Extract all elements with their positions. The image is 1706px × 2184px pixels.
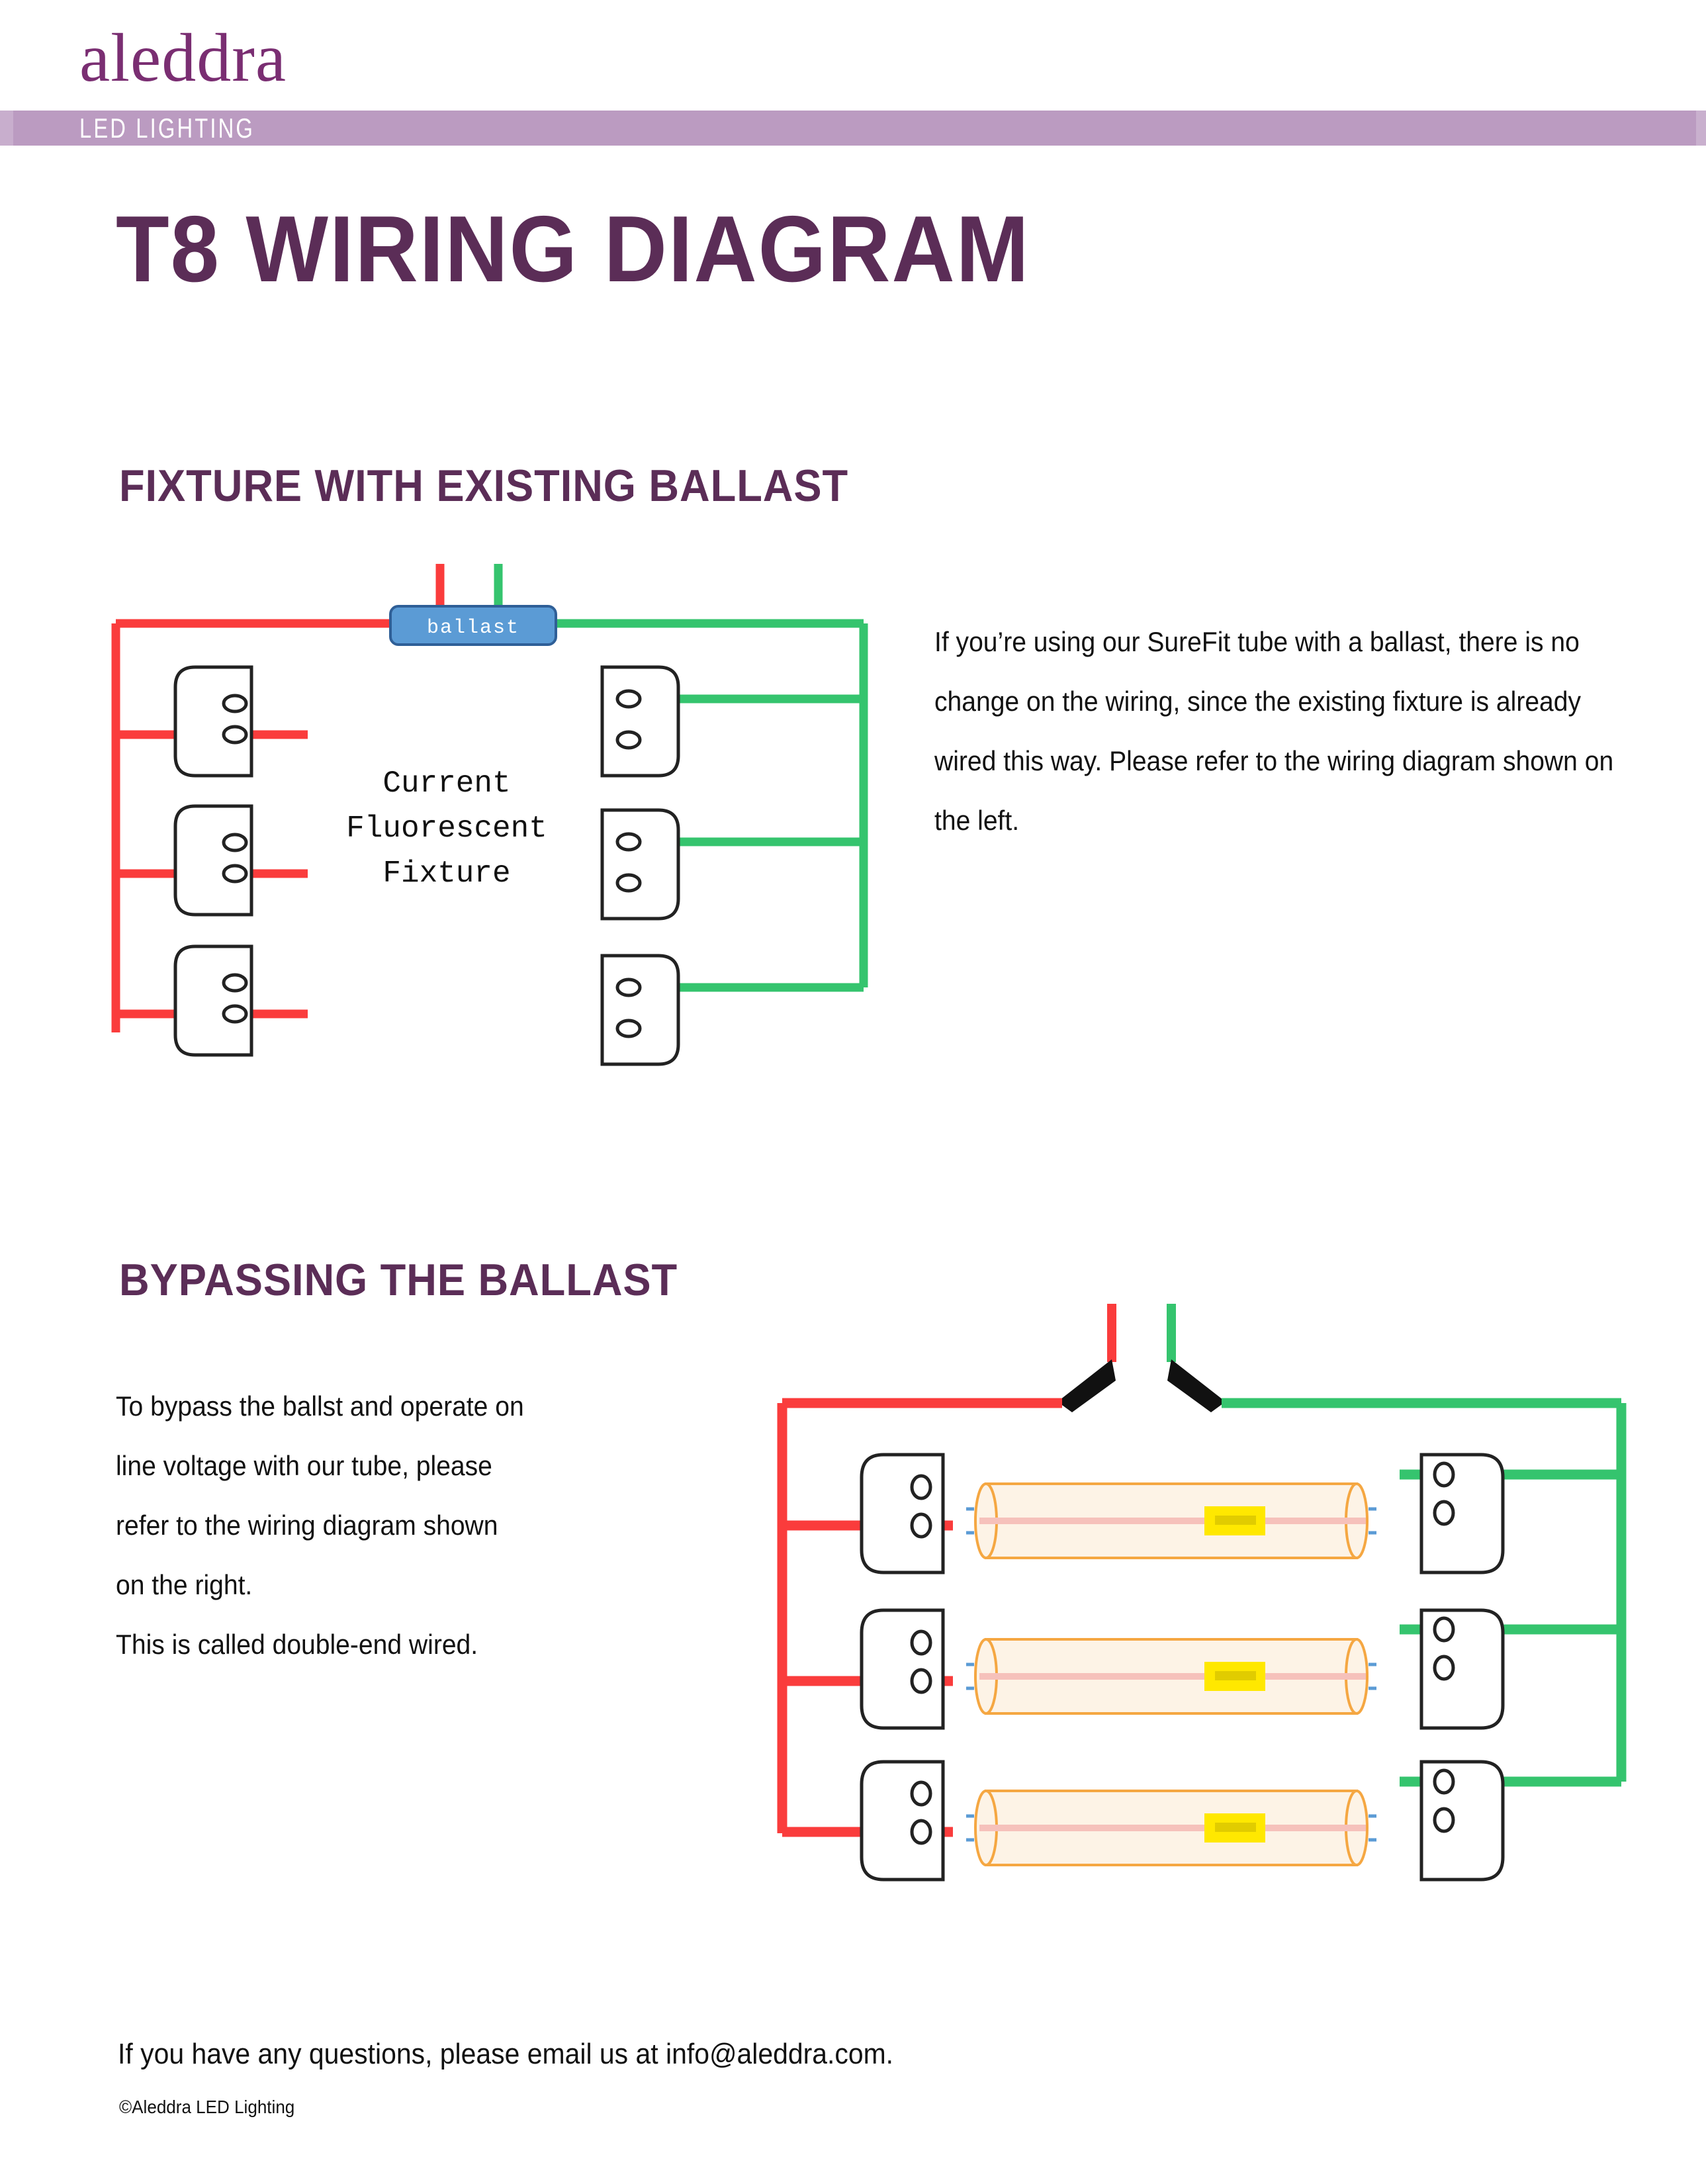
led-tube-group [966,1484,1376,1865]
fixture-center-label: Current Fluorescent Fixture [341,761,553,896]
section-heading-existing-ballast: FIXTURE WITH EXISTING BALLAST [119,463,848,508]
led-tube [966,1791,1376,1865]
page-title: T8 WIRING DIAGRAM [116,203,1030,296]
led-tube [966,1484,1376,1558]
section-body-bypass-ballast: To bypass the ballst and operate on line… [116,1377,707,1674]
bypass-body-line-5: This is called double-end wired. [116,1615,707,1674]
footer-question: If you have any questions, please email … [118,2040,893,2069]
brand-bar-left-cap [0,111,15,146]
socket-right-group [602,667,678,1064]
svg-text:ballast: ballast [427,617,519,639]
fixture-label-line-3: Fixture [341,851,553,896]
wire-nut-icons [1057,1359,1226,1412]
diagram-bypass-ballast [741,1291,1681,1886]
fixture-label-line-1: Current [341,761,553,806]
footer-copyright: ©Aleddra LED Lighting [119,2098,294,2116]
brand-bar [13,111,1697,146]
bypass-socket-left-group [862,1455,943,1880]
diagram-existing-ballast: ballast [79,543,940,1072]
section-body-existing-ballast: If you’re using our SureFit tube with a … [934,612,1642,850]
socket-left-group [175,667,251,1055]
brand-header: aleddra LED LIGHTING [0,0,1706,159]
led-tube [966,1639,1376,1713]
fixture-label-line-2: Fluorescent [341,806,553,851]
bypass-body-line-3: refer to the wiring diagram shown [116,1496,707,1555]
ballast-box: ballast [390,606,556,645]
bypass-body-line-1: To bypass the ballst and operate on [116,1377,707,1436]
bypass-body-line-2: line voltage with our tube, please [116,1436,707,1496]
brand-logo-text: aleddra [79,24,287,93]
page-root: aleddra LED LIGHTING T8 WIRING DIAGRAM F… [0,0,1706,2184]
brand-tagline: LED LIGHTING [79,114,255,143]
bypass-body-line-4: on the right. [116,1555,707,1615]
section-heading-bypass-ballast: BYPASSING THE BALLAST [119,1257,678,1302]
brand-bar-right-cap [1696,111,1706,146]
